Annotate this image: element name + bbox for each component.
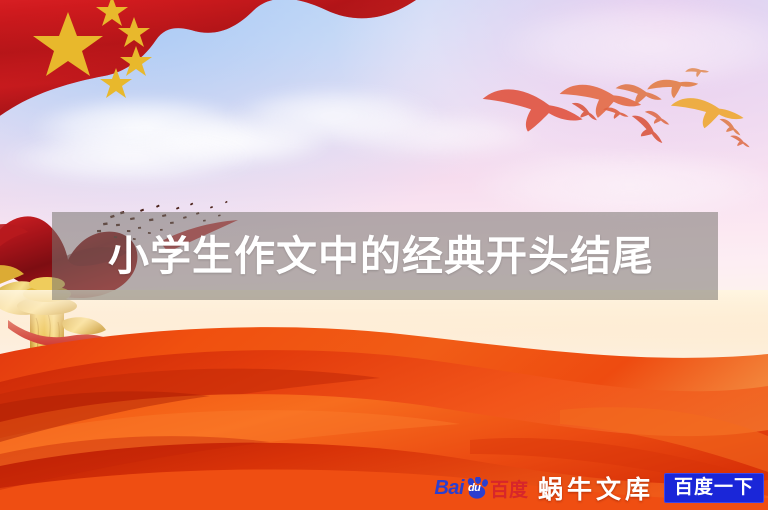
baidu-latin-du: du: [468, 482, 480, 494]
site-name-label: 蜗牛文库: [538, 470, 654, 506]
baidu-latin-bai: Bai: [434, 477, 464, 500]
page-title: 小学生作文中的经典开头结尾: [108, 236, 654, 277]
baidu-logo[interactable]: Bai du 百度: [434, 475, 528, 502]
baidu-chinese-label: 百度: [490, 475, 528, 502]
title-overlay-bar: 小学生作文中的经典开头结尾: [52, 212, 718, 300]
china-national-flag: [0, 0, 416, 165]
baidu-search-button[interactable]: 百度一下: [664, 473, 764, 504]
branding-bar: Bai du 百度 蜗牛文库 百度一下: [434, 470, 764, 506]
baidu-paw-icon: du: [465, 477, 489, 499]
banner-image: 小学生作文中的经典开头结尾 Bai du 百度 蜗牛文库 百度一下: [0, 0, 768, 510]
